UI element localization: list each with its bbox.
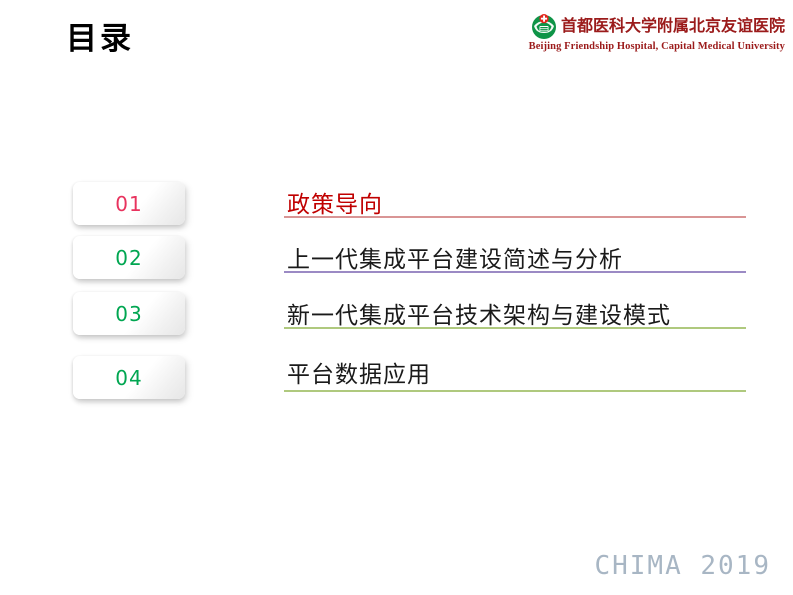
toc-item-label-04[interactable]: 平台数据应用 xyxy=(287,355,431,389)
toc-number-chip-04[interactable]: 04 xyxy=(73,356,185,399)
toc-number-chip-01[interactable]: 01 xyxy=(73,182,185,225)
toc-number-label: 03 xyxy=(115,302,142,326)
toc-item-label-01[interactable]: 政策导向 xyxy=(287,185,383,219)
toc-number-label: 02 xyxy=(115,246,142,270)
toc-number-label: 01 xyxy=(115,192,142,216)
toc-number-chip-03[interactable]: 03 xyxy=(73,292,185,335)
table-of-contents: 01 政策导向 02 上一代集成平台建设简述与分析 03 新一代集成平台技术架构… xyxy=(0,0,793,595)
footer-brand: CHIMA 2019 xyxy=(594,551,771,581)
toc-item-rule-04 xyxy=(284,390,746,392)
slide-canvas: 目录 首都医科大学附属北京友谊医院 Beijing Frien xyxy=(0,0,793,595)
toc-number-chip-02[interactable]: 02 xyxy=(73,236,185,279)
toc-item-rule-02 xyxy=(284,271,746,273)
toc-item-label-03[interactable]: 新一代集成平台技术架构与建设模式 xyxy=(287,296,671,330)
toc-item-label-02[interactable]: 上一代集成平台建设简述与分析 xyxy=(287,240,623,274)
toc-item-rule-03 xyxy=(284,327,746,329)
toc-item-rule-01 xyxy=(284,216,746,218)
toc-number-label: 04 xyxy=(115,366,142,390)
